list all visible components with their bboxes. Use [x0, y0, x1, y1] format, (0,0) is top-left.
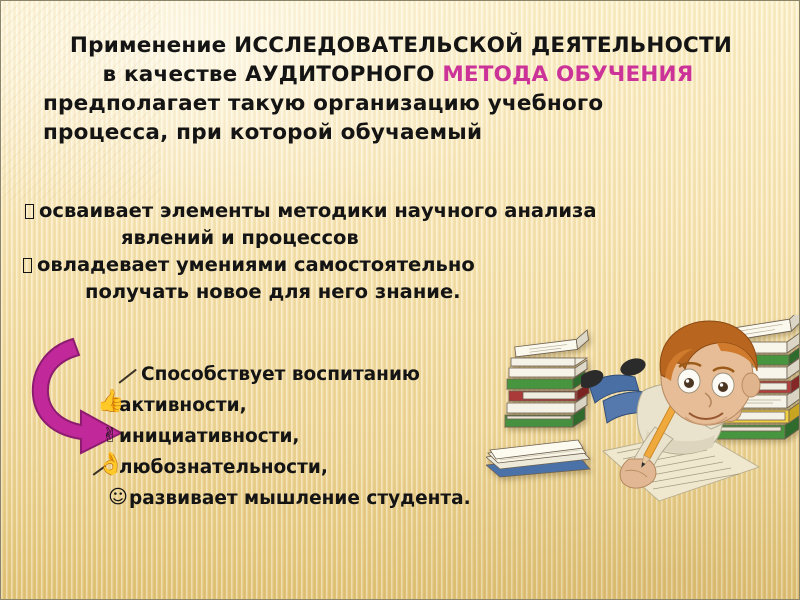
ok-hand-icon: 👌 [97, 452, 123, 478]
lower-block: Способствует воспитанию 👍 активности, ✌ … [1, 359, 800, 514]
victory-hand-icon: ✌ [97, 422, 123, 448]
bullet-item-2-cont: получать новое для него знание. [1, 278, 800, 305]
lower-item-4: ☺ развивает мышление студента. [1, 483, 800, 514]
lower-item-2: ✌ инициативности, [1, 421, 800, 452]
title-line-2-plain: в качестве АУДИТОРНОГО [103, 62, 443, 87]
title-line-3: предполагает такую организацию учебного [15, 89, 787, 118]
bullet-item-1-cont: явлений и процессов [1, 224, 800, 251]
title-block: Применение ИССЛЕДОВАТЕЛЬСКОЙ ДЕЯТЕЛЬНОСТ… [1, 31, 800, 147]
bullet-item-1: осваивает элементы методики научного ана… [1, 197, 800, 224]
smiling-face-icon: ☺ [105, 484, 131, 510]
title-line-2-accent: МЕТОДА ОБУЧЕНИЯ [442, 62, 693, 87]
missing-glyph-box-icon [25, 204, 34, 219]
bullet-item-2-line-1: овладевает умениями самостоятельно [37, 253, 475, 276]
bullet-block: осваивает элементы методики научного ана… [1, 197, 800, 305]
bullet-item-2: овладевает умениями самостоятельно [1, 251, 800, 278]
lower-item-1-label: активности, [119, 395, 247, 416]
title-line-4: процесса, при которой обучаемый [15, 118, 787, 147]
title-line-2: в качестве АУДИТОРНОГО МЕТОДА ОБУЧЕНИЯ [15, 60, 787, 89]
lower-item-3-label: любознательности, [119, 457, 328, 478]
lower-item-1: 👍 активности, [1, 390, 800, 421]
lower-item-4-label: развивает мышление студента. [129, 488, 471, 509]
lower-heading: Способствует воспитанию [1, 359, 800, 390]
thumbs-up-icon: 👍 [97, 389, 123, 415]
missing-glyph-box-icon [23, 258, 32, 273]
title-line-1: Применение ИССЛЕДОВАТЕЛЬСКОЙ ДЕЯТЕЛЬНОСТ… [15, 31, 787, 60]
lower-item-2-label: инициативности, [119, 426, 299, 447]
lower-item-3: 👌 любознательности, [1, 452, 800, 483]
slide-canvas: Применение ИССЛЕДОВАТЕЛЬСКОЙ ДЕЯТЕЛЬНОСТ… [0, 0, 800, 600]
bullet-item-1-line-1: осваивает элементы методики научного ана… [39, 199, 597, 222]
